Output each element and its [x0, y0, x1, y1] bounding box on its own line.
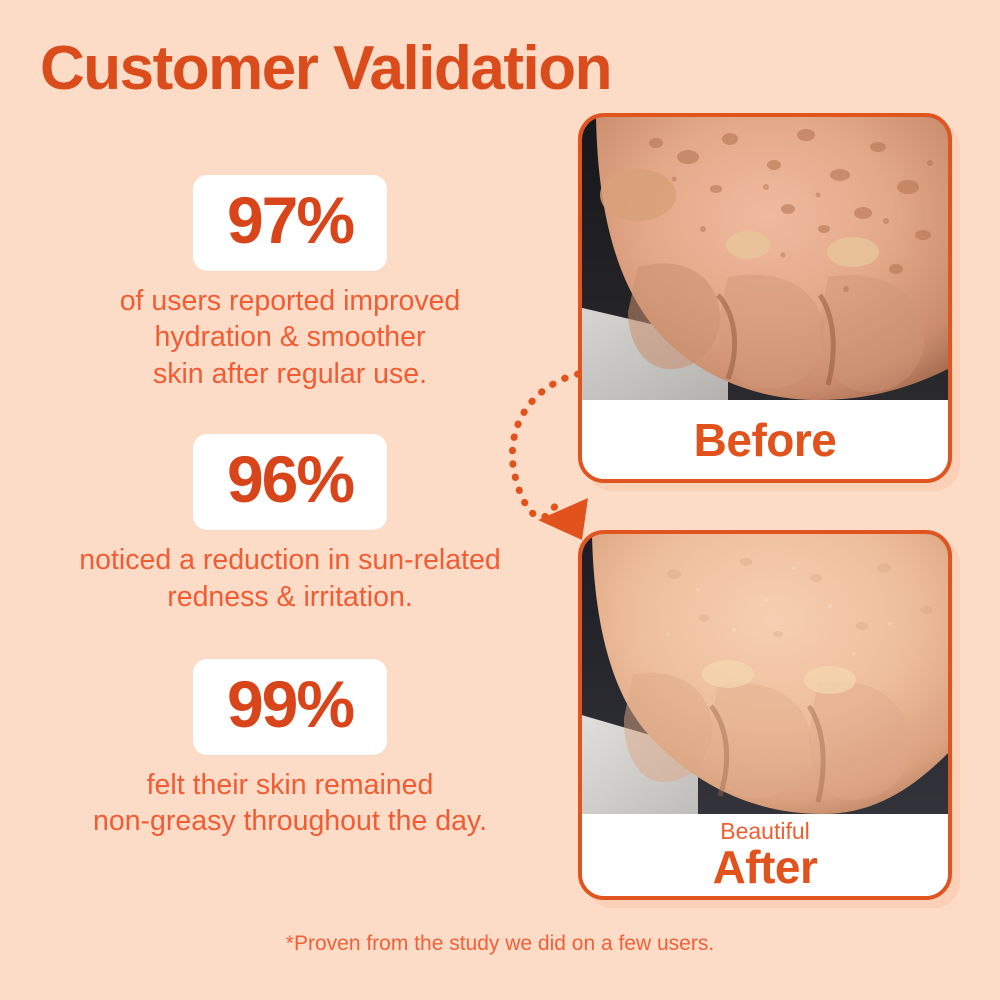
stat-value-pill: 96% [193, 434, 387, 530]
stat-value-pill: 97% [193, 175, 387, 271]
page-title: Customer Validation [40, 36, 611, 101]
stat-value: 97% [227, 183, 353, 259]
before-card: Before [578, 113, 952, 483]
after-card: Beautiful After [578, 530, 952, 900]
stat-value-pill: 99% [193, 659, 387, 755]
promo-infographic: Customer Validation 97% of users reporte… [0, 0, 1000, 1000]
before-photo [582, 117, 948, 400]
before-label: Before [694, 417, 837, 463]
stat-description: felt their skin remained non-greasy thro… [0, 767, 580, 840]
stat-value: 99% [227, 667, 353, 743]
curved-arrow-icon [470, 340, 630, 560]
stat-value: 96% [227, 442, 353, 518]
before-caption: Before [582, 400, 948, 479]
footnote: *Proven from the study we did on a few u… [0, 932, 1000, 956]
after-label: After [713, 844, 818, 890]
after-photo [582, 534, 948, 814]
stat-block: 99% felt their skin remained non-greasy … [0, 659, 580, 840]
after-sublabel: Beautiful [720, 820, 810, 843]
after-caption: Beautiful After [582, 814, 948, 896]
